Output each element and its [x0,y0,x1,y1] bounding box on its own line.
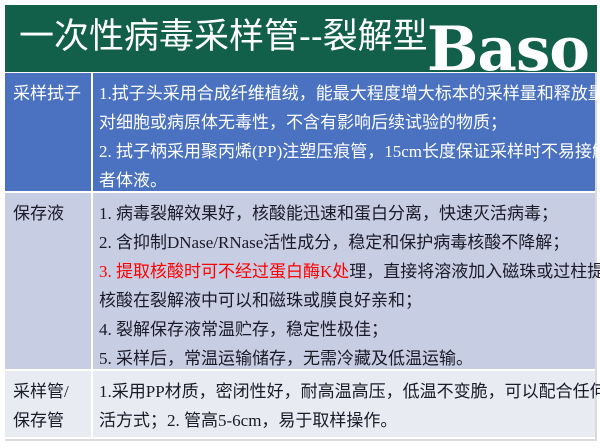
list-item: 对细胞或病原体无毒性，不含有影响后续试验的物质； [99,108,600,137]
row-label-tube-line1: 采样管/ [13,377,91,406]
list-item: 核酸在裂解液中可以和磁珠或膜良好亲和； [99,286,600,315]
row-body-tube: 1.采用PP材质，密闭性好，耐高温高压，低温不变脆，可以配合任何灭 活方式；2.… [93,371,600,437]
list-item: 者体液。 [99,166,600,195]
row-body-preservation-fluid: 1. 病毒裂解效果好，核酸能迅速和蛋白分离，快速灭活病毒； 2. 含抑制DNas… [93,193,600,369]
row-label-tube-line2: 保存管 [13,406,91,435]
list-item: 5. 采样后，常温运输储存，无需冷藏及低温运输。 [99,344,600,373]
brand-logo: Baso [427,19,589,72]
list-item-highlighted: 3. 提取核酸时可不经过蛋白酶K处理，直接将溶液加入磁珠或过柱提取， [99,257,600,286]
row-label-tube: 采样管/ 保存管 [5,371,93,437]
slide-canvas: 一次性病毒采样管--裂解型 Baso 采样拭子 1.拭子头采用合成纤维植绒，能最… [0,0,600,448]
list-item: 活方式；2. 管高5-6cm，易于取样操作。 [99,406,600,435]
list-item-tail: 理，直接将溶液加入磁珠或过柱提取， [349,262,600,281]
list-item: 2. 拭子柄采用聚丙烯(PP)注塑压痕管，15cm长度保证采样时不易接触患 [99,137,600,166]
header-band: 一次性病毒采样管--裂解型 Baso [5,5,597,72]
page-title: 一次性病毒采样管--裂解型 [19,13,428,61]
table-row: 采样拭子 1.拭子头采用合成纤维植绒，能最大程度增大标本的采样量和释放量， 对细… [5,73,595,193]
table-row: 保存液 1. 病毒裂解效果好，核酸能迅速和蛋白分离，快速灭活病毒； 2. 含抑制… [5,193,595,371]
list-item: 1.采用PP材质，密闭性好，耐高温高压，低温不变脆，可以配合任何灭 [99,377,600,406]
spec-table: 采样拭子 1.拭子头采用合成纤维植绒，能最大程度增大标本的采样量和释放量， 对细… [5,73,597,441]
list-item: 1. 病毒裂解效果好，核酸能迅速和蛋白分离，快速灭活病毒； [99,199,600,228]
row-label-swab: 采样拭子 [5,73,93,191]
list-item: 2. 含抑制DNase/RNase活性成分，稳定和保护病毒核酸不降解； [99,228,600,257]
list-item: 1.拭子头采用合成纤维植绒，能最大程度增大标本的采样量和释放量， [99,79,600,108]
row-label-preservation-fluid: 保存液 [5,193,93,369]
highlight-text: 3. 提取核酸时可不经过蛋白酶K处 [99,262,349,281]
row-body-swab: 1.拭子头采用合成纤维植绒，能最大程度增大标本的采样量和释放量， 对细胞或病原体… [93,73,600,191]
table-row: 采样管/ 保存管 1.采用PP材质，密闭性好，耐高温高压，低温不变脆，可以配合任… [5,371,595,437]
list-item: 4. 裂解保存液常温贮存，稳定性极佳； [99,315,600,344]
